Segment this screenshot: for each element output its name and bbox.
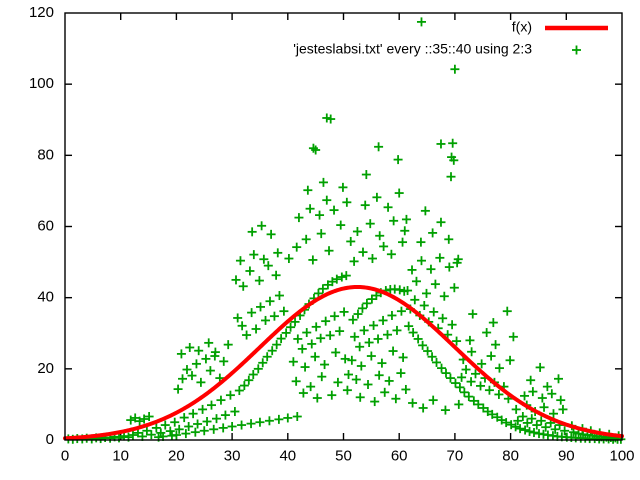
legend-entry-label: 'jesteslabsi.txt' every ::35::40 using 2… (293, 41, 532, 57)
y-tick-label: 60 (37, 217, 54, 234)
x-tick-label: 90 (558, 447, 575, 464)
x-tick-label: 70 (447, 447, 464, 464)
y-tick-label: 120 (29, 4, 54, 21)
x-tick-label: 80 (502, 447, 519, 464)
x-tick-label: 20 (168, 447, 185, 464)
y-tick-label: 0 (46, 431, 54, 448)
y-tick-label: 40 (37, 289, 54, 306)
x-tick-label: 40 (279, 447, 296, 464)
x-tick-label: 60 (391, 447, 408, 464)
y-tick-label: 80 (37, 146, 54, 163)
x-tick-label: 50 (335, 447, 352, 464)
x-tick-label: 10 (112, 447, 129, 464)
gnuplot-figure: 020406080100120 0102030405060708090100 f… (0, 0, 640, 480)
legend-entry-label: f(x) (512, 19, 532, 35)
x-tick-label: 30 (224, 447, 241, 464)
x-tick-label: 100 (609, 447, 634, 464)
x-tick-label: 0 (61, 447, 69, 464)
y-tick-label: 100 (29, 75, 54, 92)
y-tick-label: 20 (37, 360, 54, 377)
chart-canvas: 020406080100120 0102030405060708090100 f… (0, 0, 640, 480)
